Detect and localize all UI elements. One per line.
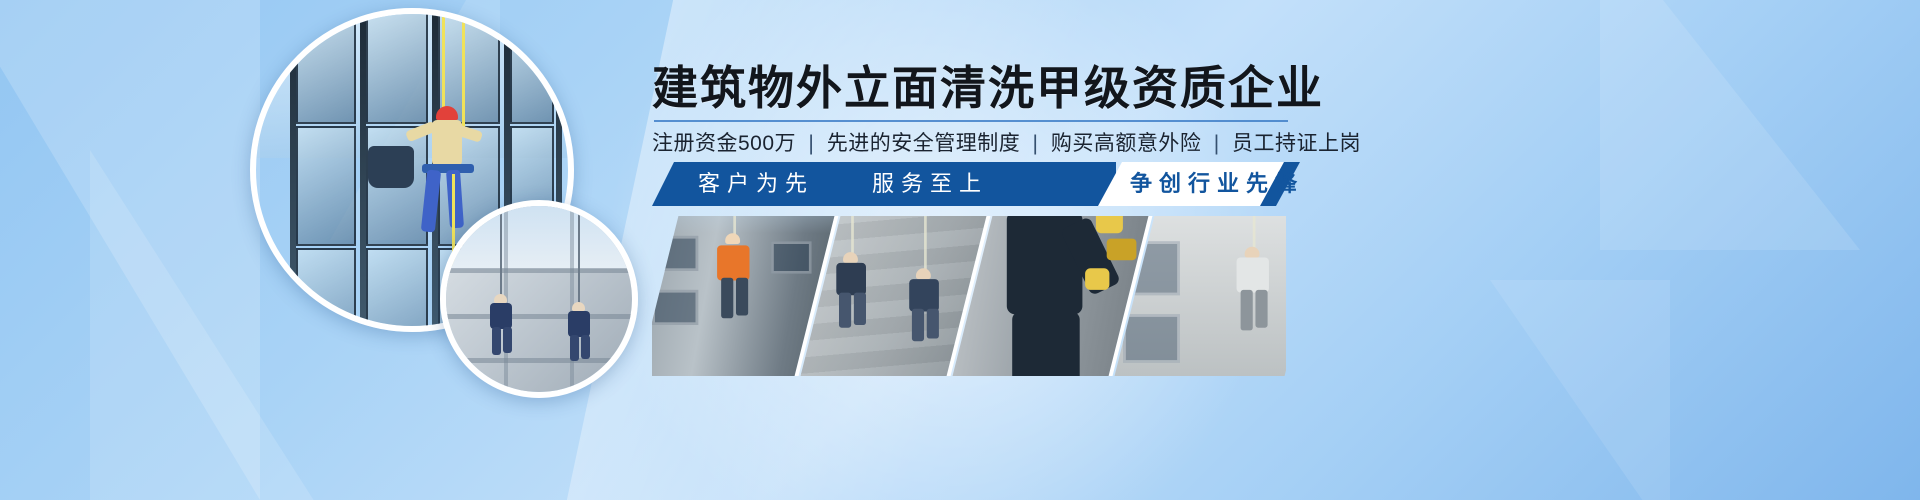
photo-strip (652, 216, 1286, 376)
subtitle-separator: | (1208, 132, 1226, 155)
photo-grey-facade-rope-workers (440, 200, 638, 398)
worker-leg (927, 309, 939, 339)
worker-leg (839, 293, 851, 328)
subtitle-part-4: 员工持证上岗 (1232, 132, 1361, 155)
slogan-3: 争创行业先锋 (1130, 162, 1304, 206)
page-title: 建筑物外立面清洗甲级资质企业 (652, 52, 1324, 118)
worker-head (843, 252, 858, 263)
worker-legs (1012, 312, 1079, 377)
cleaning-bucket (368, 146, 414, 188)
worker-leg (570, 335, 579, 361)
building-window (652, 236, 698, 271)
worker-leg (581, 335, 590, 359)
facade-band (440, 358, 638, 363)
worker-vest-orange (717, 245, 749, 280)
worker-head (572, 302, 585, 311)
glass-pane (296, 248, 356, 332)
rope-worker-right (562, 302, 602, 372)
subtitle-part-2: 先进的安全管理制度 (827, 132, 1021, 155)
worker-head (916, 268, 931, 279)
glass-pane (510, 8, 554, 124)
subtitle-separator: | (802, 132, 820, 155)
sky-area (446, 206, 632, 269)
safety-rope (500, 206, 502, 298)
building-window (771, 241, 812, 273)
glass-pane (296, 126, 356, 246)
worker-torso (490, 303, 512, 329)
subtitle: 注册资金500万 | 先进的安全管理制度 | 购买高额意外险 | 员工持证上岗 (652, 127, 1361, 157)
worker-figure (830, 252, 881, 347)
worker-glove (1096, 216, 1123, 233)
background-triangle-right-lower (1490, 280, 1670, 500)
safety-rope (462, 14, 465, 134)
worker-torso (1237, 258, 1269, 293)
safety-rope (924, 216, 927, 274)
worker-figure (1228, 247, 1282, 350)
slogan-1: 客户为先 (698, 162, 814, 206)
worker-leg (503, 327, 512, 353)
glass-pane (296, 8, 356, 124)
rope-worker-left (484, 294, 524, 364)
worker-figure (902, 268, 953, 363)
worker-figure (709, 233, 763, 338)
subtitle-part-3: 购买高额意外险 (1051, 132, 1202, 155)
worker-glove (1085, 268, 1109, 290)
worker-torso (909, 279, 939, 311)
worker-head (494, 294, 507, 303)
slogan-ribbon: 客户为先 服务至上 争创行业先锋 (652, 162, 1286, 206)
worker-leg (1241, 290, 1253, 331)
grey-facade-background (446, 206, 632, 392)
promo-banner: 建筑物外立面清洗甲级资质企业 注册资金500万 | 先进的安全管理制度 | 购买… (0, 0, 1920, 500)
glass-pane (366, 248, 428, 332)
worker-head (725, 233, 740, 244)
worker-torso (568, 311, 590, 337)
subtitle-separator: | (1027, 132, 1045, 155)
worker-leg (1255, 290, 1267, 328)
slogan-2: 服务至上 (872, 162, 988, 206)
worker-leg (854, 293, 866, 325)
title-divider (654, 120, 1288, 122)
worker-leg (912, 309, 924, 341)
worker-torso (836, 263, 866, 295)
worker-head (1245, 247, 1260, 258)
building-window (652, 290, 698, 325)
background-triangle-right (1600, 0, 1860, 250)
safety-rope (578, 206, 580, 306)
worker-leg (736, 278, 748, 316)
glass-pane (366, 8, 428, 124)
plastering-trowel (1107, 239, 1137, 261)
worker-leg (492, 327, 501, 355)
balcony-opening (1123, 314, 1180, 363)
subtitle-part-1: 注册资金500万 (652, 132, 796, 155)
facade-band (440, 268, 638, 273)
worker-leg (721, 278, 733, 319)
facade-band (440, 314, 638, 319)
